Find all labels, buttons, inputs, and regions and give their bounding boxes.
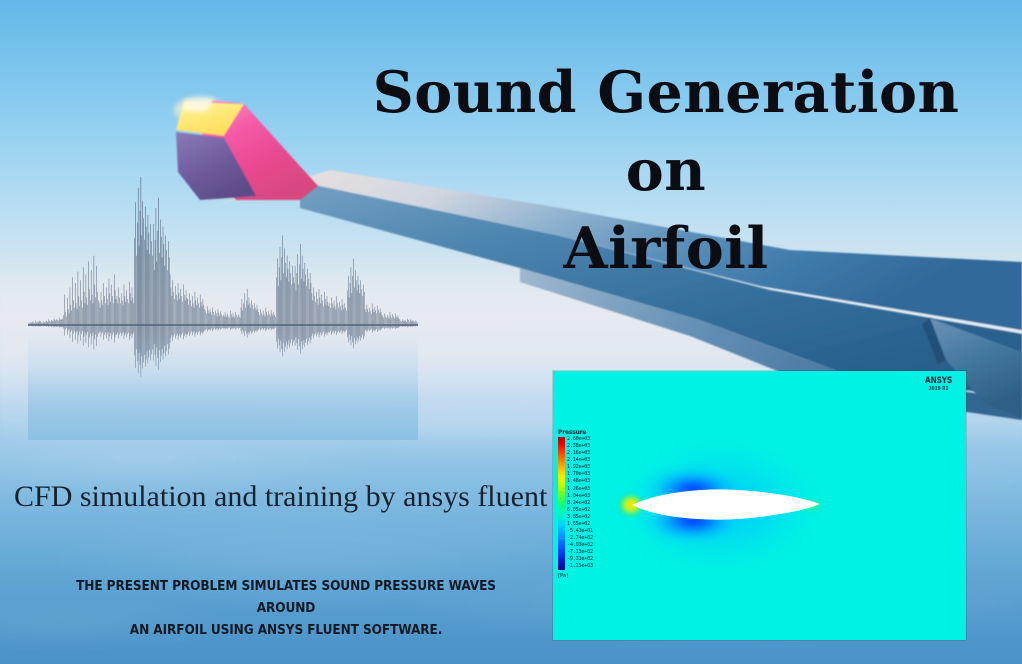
waveform-bar xyxy=(54,319,55,328)
waveform-bar xyxy=(265,316,266,328)
waveform-bar xyxy=(350,283,351,340)
waveform-bar xyxy=(87,305,88,332)
waveform-bar xyxy=(88,261,89,347)
waveform-bar xyxy=(149,233,150,358)
legend-value: 6.05e+02 xyxy=(567,508,593,514)
waveform-bar xyxy=(236,315,237,329)
waveform-bar xyxy=(78,272,79,344)
waveform-bar xyxy=(204,309,205,330)
waveform-bar xyxy=(328,306,329,331)
waveform-bar xyxy=(79,306,80,331)
waveform-bar xyxy=(126,302,127,333)
waveform-bar xyxy=(150,224,151,361)
waveform-bar xyxy=(206,313,207,329)
waveform-bar xyxy=(181,296,182,335)
waveform-bar xyxy=(60,319,61,327)
waveform-bar xyxy=(182,302,183,333)
waveform-bar xyxy=(344,303,345,332)
waveform-bar xyxy=(195,292,196,337)
waveform-bar xyxy=(113,303,114,332)
waveform-bar xyxy=(105,303,106,332)
waveform-bar xyxy=(335,306,336,331)
waveform-bar xyxy=(174,299,175,334)
waveform-bar xyxy=(284,248,285,351)
waveform-bar xyxy=(197,298,198,335)
waveform-bar xyxy=(376,313,377,329)
waveform-bar xyxy=(70,287,71,338)
waveform-bar xyxy=(288,269,289,345)
legend-value: 2.14e+03 xyxy=(567,458,593,464)
waveform-bar xyxy=(360,293,361,336)
waveform-bar xyxy=(375,311,376,331)
caption-line-2: AN AIRFOIL USING ANSYS FLUENT SOFTWARE. xyxy=(56,620,516,642)
waveform-bar xyxy=(86,274,87,342)
waveform-bar xyxy=(119,298,120,335)
waveform-bar xyxy=(262,316,263,329)
waveform-bar xyxy=(361,289,362,338)
waveform-bar xyxy=(391,318,392,328)
waveform-bar xyxy=(87,298,88,335)
waveform-bar xyxy=(81,300,82,333)
waveform-bar xyxy=(219,313,220,330)
waveform-bar xyxy=(382,315,383,329)
waveform-bar xyxy=(188,305,189,332)
poster-canvas: Sound Generation on Airfoil CFD simulati… xyxy=(0,0,1022,664)
waveform-bar xyxy=(165,235,166,356)
waveform-bar xyxy=(260,309,261,330)
waveform-bar xyxy=(194,308,195,331)
waveform-bar xyxy=(242,299,243,334)
waveform-bar xyxy=(177,300,178,333)
waveform-bar xyxy=(187,298,188,335)
legend-value: 1.26e+03 xyxy=(567,487,593,493)
waveform-bar xyxy=(207,306,208,331)
waveform-bar xyxy=(272,313,273,329)
waveform-bar xyxy=(121,293,122,336)
waveform-bar xyxy=(127,299,128,334)
waveform-bar xyxy=(173,292,174,337)
waveform-bar xyxy=(253,309,254,330)
waveform-bar xyxy=(345,308,346,331)
waveform-bar xyxy=(183,285,184,340)
waveform-bar xyxy=(227,313,228,329)
waveform-bar xyxy=(229,318,230,328)
waveform-bar xyxy=(79,296,80,335)
waveform-bar xyxy=(258,309,259,330)
waveform-bar xyxy=(244,293,245,336)
waveform-bar xyxy=(97,292,98,337)
waveform-bar xyxy=(227,317,228,328)
waveform-bar xyxy=(139,246,140,353)
cfd-contour-panel: Pressure 2.60e+032.38e+032.16e+032.14e+0… xyxy=(553,371,966,640)
waveform-bar xyxy=(189,293,190,336)
waveform-bar xyxy=(263,311,264,331)
ansys-brand-text: ANSYS xyxy=(925,377,952,386)
waveform-bar xyxy=(108,305,109,332)
waveform-bar xyxy=(215,311,216,331)
waveform-bar xyxy=(213,312,214,330)
waveform-bar xyxy=(133,298,134,335)
waveform-bar xyxy=(157,231,158,358)
waveform-bar xyxy=(364,292,365,337)
waveform-bar xyxy=(94,285,95,340)
waveform-bar xyxy=(310,273,311,343)
waveform-bar xyxy=(106,287,107,338)
waveform-bar xyxy=(298,285,299,340)
waveform-bar xyxy=(299,264,300,346)
waveform-bar xyxy=(134,238,135,355)
waveform-bar xyxy=(391,316,392,329)
waveform-bar xyxy=(101,292,102,337)
waveform-bar xyxy=(370,311,371,330)
waveform-bar xyxy=(380,308,381,330)
waveform-bar xyxy=(166,250,167,351)
waveform-bar xyxy=(140,211,141,365)
waveform-bar xyxy=(305,263,306,347)
pressure-legend: Pressure 2.60e+032.38e+032.16e+032.14e+0… xyxy=(558,429,593,579)
waveform-bar xyxy=(200,295,201,336)
waveform-bar xyxy=(149,254,150,350)
waveform-bar xyxy=(257,305,258,332)
waveform-bar xyxy=(161,237,162,356)
waveform-bar xyxy=(286,277,287,341)
legend-value: -7.13e+02 xyxy=(567,550,593,556)
waveform-bar xyxy=(141,235,142,356)
waveform-bar xyxy=(315,302,316,333)
legend-value: 3.85e+02 xyxy=(567,515,593,521)
waveform-bar xyxy=(252,305,253,332)
waveform-bar xyxy=(304,282,305,341)
waveform-bar xyxy=(237,317,238,328)
waveform-bar xyxy=(235,312,236,330)
waveform-bar xyxy=(393,316,394,328)
waveform-bar xyxy=(222,316,223,328)
waveform-bar xyxy=(74,308,75,331)
waveform-bar xyxy=(159,253,160,351)
waveform-bar xyxy=(402,319,403,327)
waveform-bar xyxy=(289,282,290,341)
waveform-bar xyxy=(185,300,186,333)
waveform-bar xyxy=(362,296,363,335)
waveform-bar xyxy=(372,303,373,332)
waveform-bar xyxy=(235,318,236,328)
waveform-bar xyxy=(280,247,281,352)
waveform-bar xyxy=(109,279,110,341)
waveform-bar xyxy=(217,316,218,328)
waveform-bar xyxy=(202,306,203,331)
waveform-bar xyxy=(56,319,57,327)
waveform-bar xyxy=(245,308,246,331)
waveform-bar xyxy=(75,283,76,340)
waveform-bar xyxy=(225,312,226,330)
waveform-bar xyxy=(192,296,193,335)
waveform-bar xyxy=(71,311,72,331)
waveform-bar xyxy=(359,285,360,340)
page-title: Sound Generation on Airfoil xyxy=(330,54,1002,288)
waveform-bar xyxy=(397,318,398,328)
waveform-bar xyxy=(118,303,119,332)
waveform-bar xyxy=(152,256,153,350)
waveform-bar xyxy=(269,314,270,329)
waveform-bar xyxy=(190,300,191,333)
waveform-bar xyxy=(392,314,393,329)
waveform-bar xyxy=(125,296,126,335)
waveform-bar xyxy=(115,290,116,337)
legend-value: 1.70e+03 xyxy=(567,472,593,478)
legend-value: 1.92e+03 xyxy=(567,465,593,471)
waveform-bar xyxy=(377,306,378,332)
waveform-bar xyxy=(59,318,60,328)
waveform-bar xyxy=(311,283,312,340)
waveform-bar xyxy=(90,300,91,333)
waveform-bar xyxy=(154,270,155,344)
waveform-bar xyxy=(337,303,338,332)
waveform-bar xyxy=(100,308,101,331)
waveform-bar xyxy=(111,285,112,340)
waveform-bar xyxy=(387,315,388,329)
waveform-bar xyxy=(94,256,95,350)
waveform-bar xyxy=(129,282,130,341)
waveform-bar xyxy=(167,270,168,344)
waveform-bar xyxy=(324,292,325,337)
waveform-bar xyxy=(180,299,181,334)
waveform-bar xyxy=(267,315,268,329)
waveform-bar xyxy=(268,311,269,330)
waveform-bar xyxy=(338,308,339,331)
waveform-bar xyxy=(246,300,247,333)
legend-value: 1.65e+02 xyxy=(567,522,593,528)
waveform-bar xyxy=(274,315,275,329)
legend-value: -9.33e+02 xyxy=(567,557,593,563)
waveform-bar xyxy=(295,266,296,346)
waveform-bar xyxy=(186,290,187,337)
waveform-bar xyxy=(340,306,341,331)
waveform-bar xyxy=(170,274,171,342)
waveform-bar xyxy=(196,305,197,332)
waveform-bar xyxy=(65,312,66,330)
waveform-bar xyxy=(318,305,319,332)
waveform-bar xyxy=(287,256,288,350)
waveform-bar xyxy=(232,317,233,328)
waveform-bar xyxy=(179,293,180,336)
waveform-bar xyxy=(216,313,217,329)
waveform-bar xyxy=(386,318,387,328)
waveform-bar xyxy=(314,296,315,335)
waveform-bar xyxy=(76,303,77,332)
waveform-bar xyxy=(290,273,291,343)
waveform-bar xyxy=(274,312,275,330)
waveform-bar xyxy=(251,300,252,333)
waveform-bar xyxy=(221,314,222,329)
waveform-bar xyxy=(132,287,133,338)
waveform-bar xyxy=(317,299,318,334)
waveform-bar xyxy=(282,235,283,356)
waveform-bar xyxy=(343,305,344,332)
waveform-bar xyxy=(102,300,103,333)
waveform-bar xyxy=(368,312,369,330)
legend-value: -1.15e+03 xyxy=(567,564,593,570)
waveform-bar xyxy=(63,319,64,327)
waveform-bar xyxy=(153,224,154,361)
waveform-bar xyxy=(255,308,256,331)
waveform-bar xyxy=(270,316,271,328)
waveform-bar xyxy=(208,311,209,331)
waveform-bar xyxy=(398,316,399,329)
waveform-bar xyxy=(175,286,176,339)
legend-value: 2.38e+03 xyxy=(567,444,593,450)
waveform-bar xyxy=(297,254,298,350)
waveform-bar xyxy=(230,311,231,331)
waveform-bar xyxy=(238,314,239,329)
waveform-bar xyxy=(180,289,181,338)
waveform-bar xyxy=(193,303,194,332)
waveform-bar xyxy=(118,287,119,338)
waveform-bar xyxy=(137,222,138,361)
waveform-bar xyxy=(136,256,137,350)
pressure-contour-field xyxy=(553,371,966,640)
waveform-bar xyxy=(112,296,113,335)
waveform-bar xyxy=(365,309,366,330)
waveform-bar xyxy=(248,305,249,332)
waveform-bar xyxy=(210,309,211,330)
waveform-bar xyxy=(385,316,386,328)
waveform-bar xyxy=(124,285,125,340)
waveform-bar xyxy=(168,241,169,354)
waveform-bar xyxy=(250,303,251,332)
waveform-bar xyxy=(103,283,104,340)
waveform-bar xyxy=(89,289,90,338)
waveform-bar xyxy=(281,280,282,340)
waveform-bar xyxy=(176,295,177,336)
waveform-bar xyxy=(346,311,347,331)
waveform-bar xyxy=(146,227,147,360)
waveform-bar xyxy=(163,227,164,360)
waveform-bar xyxy=(322,300,323,333)
waveform-bar xyxy=(69,313,70,329)
waveform-bar xyxy=(220,311,221,330)
ansys-version-text: 2019 R1 xyxy=(924,387,952,392)
waveform-bar xyxy=(323,306,324,331)
waveform-bar xyxy=(198,303,199,332)
waveform-bar xyxy=(156,208,157,366)
waveform-bar xyxy=(128,303,129,332)
waveform-bar xyxy=(138,188,139,373)
subtitle-text: CFD simulation and training by ansys flu… xyxy=(14,478,547,516)
waveform-bar xyxy=(331,298,332,335)
waveform-bar xyxy=(375,307,376,331)
waveform-bar xyxy=(291,285,292,340)
waveform-bar xyxy=(305,274,306,342)
waveform-bar xyxy=(394,319,395,328)
waveform-bar xyxy=(366,312,367,330)
caption-line-1: THE PRESENT PROBLEM SIMULATES SOUND PRES… xyxy=(56,576,516,620)
waveform-bar xyxy=(122,300,123,333)
waveform-bar xyxy=(188,299,189,334)
waveform-bar xyxy=(147,250,148,351)
waveform-bar xyxy=(211,315,212,329)
waveform-bar xyxy=(67,298,68,335)
waveform-bar xyxy=(341,311,342,331)
waveform-bar xyxy=(313,287,314,338)
waveform-baseline xyxy=(28,324,418,326)
waveform-bar xyxy=(390,312,391,330)
waveform-bar xyxy=(285,263,286,347)
waveform-bar xyxy=(123,305,124,332)
waveform-bar xyxy=(231,314,232,329)
waveform-bar xyxy=(126,290,127,337)
waveform-bar xyxy=(66,316,67,328)
waveform-bar xyxy=(292,266,293,346)
legend-value: 1.04e+03 xyxy=(567,494,593,500)
waveform-bar xyxy=(83,267,84,345)
waveform-bar xyxy=(336,309,337,330)
caption-block: THE PRESENT PROBLEM SIMULATES SOUND PRES… xyxy=(56,576,516,642)
waveform-bar xyxy=(302,256,303,350)
waveform-bar xyxy=(141,177,142,377)
waveform-bar xyxy=(399,318,400,328)
waveform-bar xyxy=(383,316,384,328)
waveform-bar xyxy=(228,316,229,328)
waveform-bar xyxy=(383,318,384,328)
waveform-bar xyxy=(133,303,134,332)
waveform-bar xyxy=(371,314,372,329)
waveform-bar xyxy=(373,309,374,330)
waveform-bar xyxy=(320,298,321,335)
waveform-bar xyxy=(233,313,234,330)
waveform-bar xyxy=(172,280,173,340)
waveform-bar xyxy=(241,308,242,331)
waveform-bar xyxy=(332,303,333,332)
waveform-bar xyxy=(204,305,205,332)
waveform-bar xyxy=(85,303,86,332)
ansys-logo: ANSYS 2019 R1 xyxy=(923,377,954,392)
waveform-bar xyxy=(369,308,370,331)
waveform-bar xyxy=(117,296,118,335)
waveform-bar xyxy=(276,277,277,341)
waveform-bar xyxy=(91,270,92,344)
legend-unit: [Pa] xyxy=(558,573,593,579)
waveform-bar xyxy=(239,316,240,328)
waveform-bar xyxy=(142,201,143,369)
waveform-bar xyxy=(300,244,301,353)
legend-value: 2.60e+03 xyxy=(567,437,593,443)
waveform-bar xyxy=(116,299,117,334)
waveform-bar xyxy=(82,308,83,331)
legend-tick-values: 2.60e+032.38e+032.16e+032.14e+031.92e+03… xyxy=(567,437,593,570)
waveform-bar xyxy=(196,300,197,333)
waveform-bar xyxy=(226,315,227,329)
waveform-bar xyxy=(77,309,78,330)
waveform-bar xyxy=(333,308,334,331)
waveform-bar xyxy=(131,300,132,333)
waveform-bar xyxy=(254,303,255,332)
waveform-bar xyxy=(339,302,340,333)
waveform-bar xyxy=(271,310,272,330)
waveform-bar xyxy=(145,207,146,367)
waveform-bar xyxy=(277,259,278,349)
waveform-bar xyxy=(93,303,94,332)
waveform-bar xyxy=(301,279,302,341)
waveform-bar xyxy=(356,280,357,340)
waveform-bar xyxy=(169,257,170,349)
waveform-bar xyxy=(247,289,248,338)
title-line-2: Airfoil xyxy=(330,210,1002,288)
waveform-bar xyxy=(297,273,298,343)
waveform-bar xyxy=(307,269,308,345)
waveform-bar xyxy=(104,296,105,335)
waveform-bar xyxy=(172,296,173,335)
waveform-bar xyxy=(273,316,274,329)
